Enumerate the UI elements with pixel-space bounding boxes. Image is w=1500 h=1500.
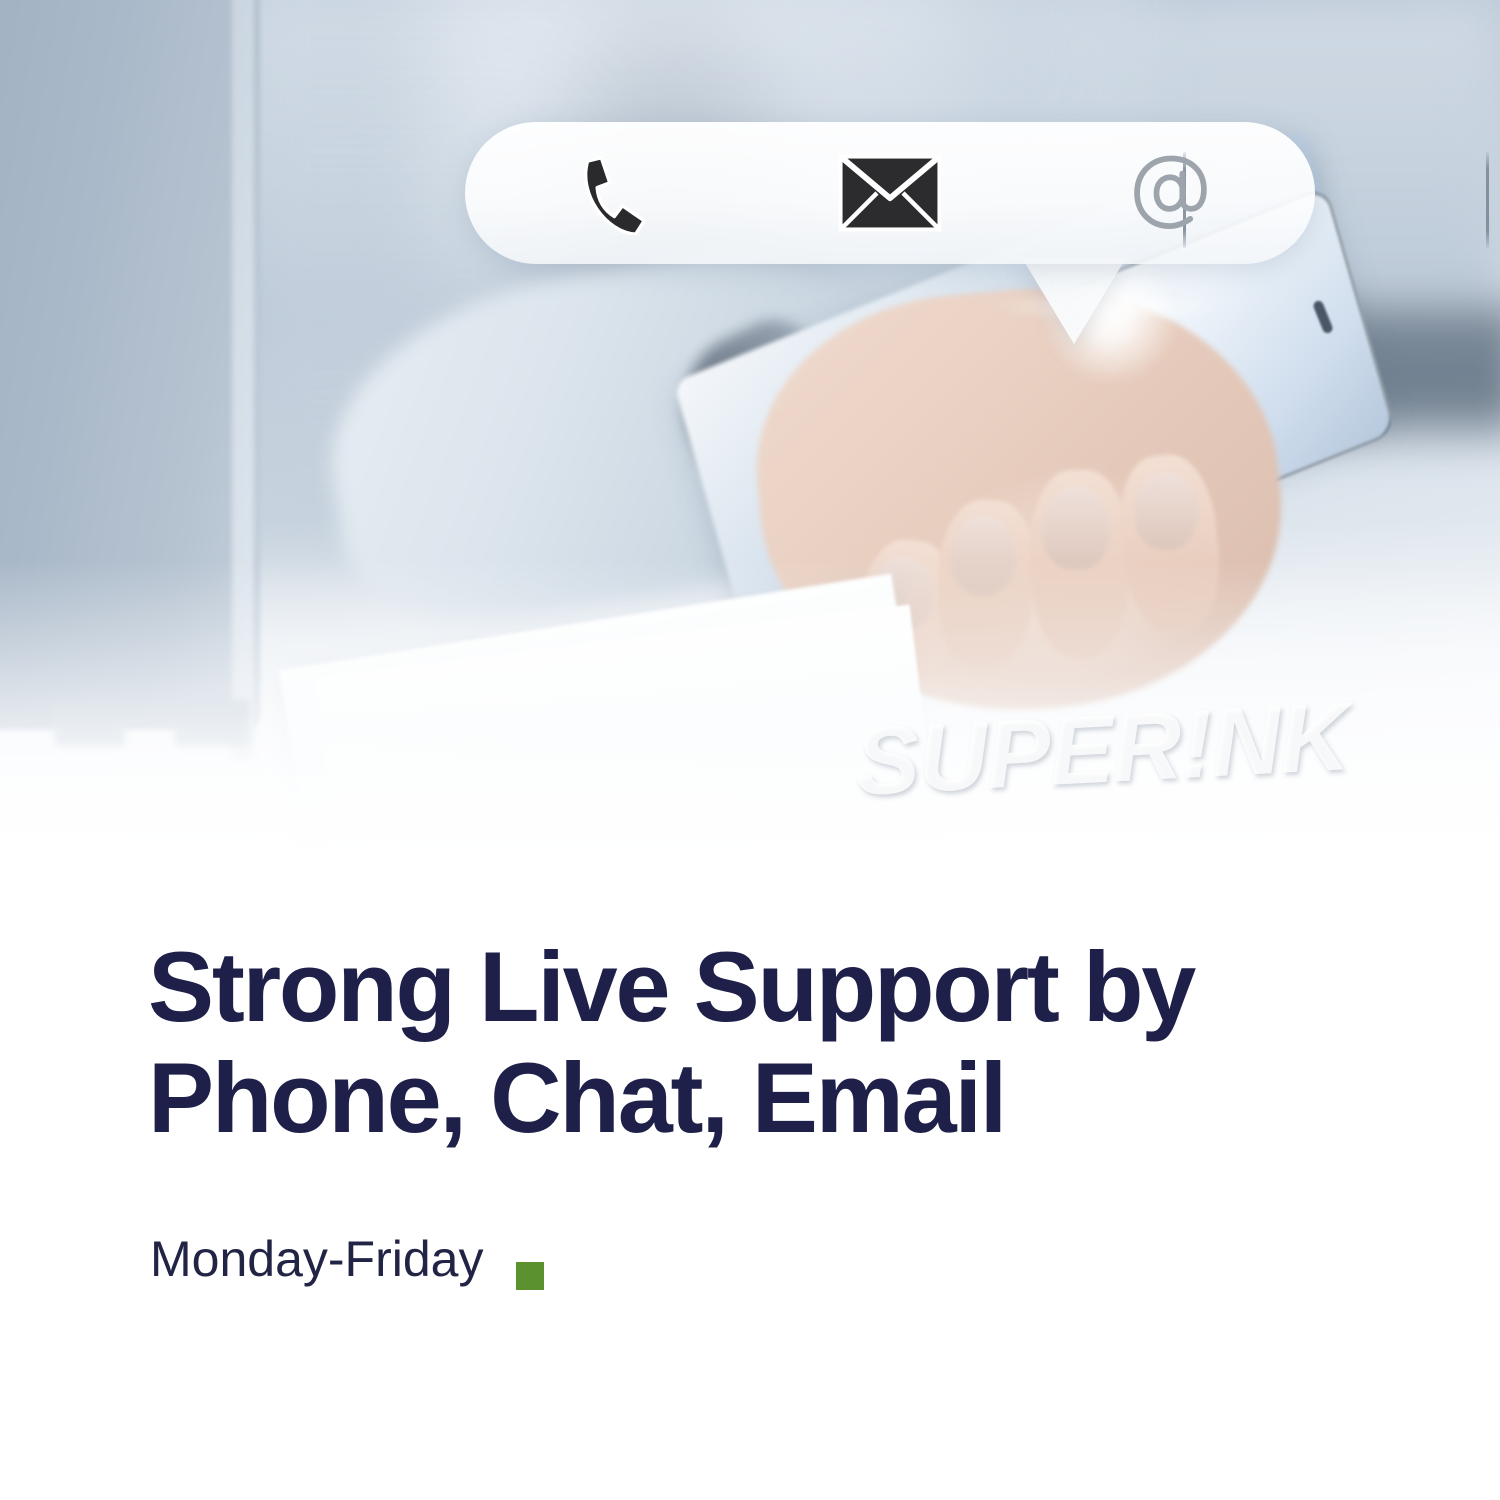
at-sign-icon <box>1127 147 1219 239</box>
page-title: Strong Live Support by Phone, Chat, Emai… <box>148 932 1348 1154</box>
contact-bar-item-phone[interactable] <box>465 122 748 264</box>
availability-row: Monday-Friday <box>150 1228 544 1290</box>
contact-bar-item-at[interactable] <box>1032 122 1315 264</box>
contact-bar-tail <box>1022 258 1126 344</box>
envelope-icon <box>838 154 942 232</box>
contact-bar-divider <box>1486 152 1489 248</box>
fingernail <box>1042 486 1110 570</box>
accent-square <box>516 1262 544 1290</box>
availability-text: Monday-Friday <box>150 1230 483 1288</box>
promo-card: SUPER!NK <box>0 0 1500 1500</box>
phone-handset-icon <box>565 151 649 235</box>
contact-bar <box>465 122 1315 264</box>
fingernail <box>1134 472 1198 550</box>
contact-bar-item-email[interactable] <box>748 122 1031 264</box>
